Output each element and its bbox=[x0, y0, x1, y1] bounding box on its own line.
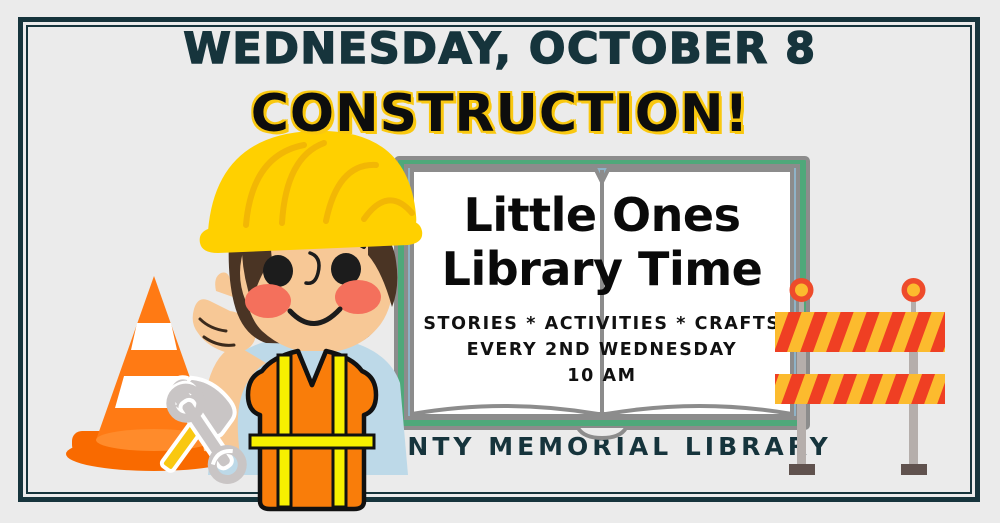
hammer-and-wrench-icon bbox=[140, 375, 270, 485]
event-heading: CONSTRUCTION! bbox=[0, 84, 1000, 144]
road-barricade-icon bbox=[775, 278, 975, 483]
flyer-poster: WEDNESDAY, OCTOBER 8 Little Ones Library… bbox=[0, 0, 1000, 523]
date-heading: WEDNESDAY, OCTOBER 8 bbox=[0, 24, 1000, 74]
